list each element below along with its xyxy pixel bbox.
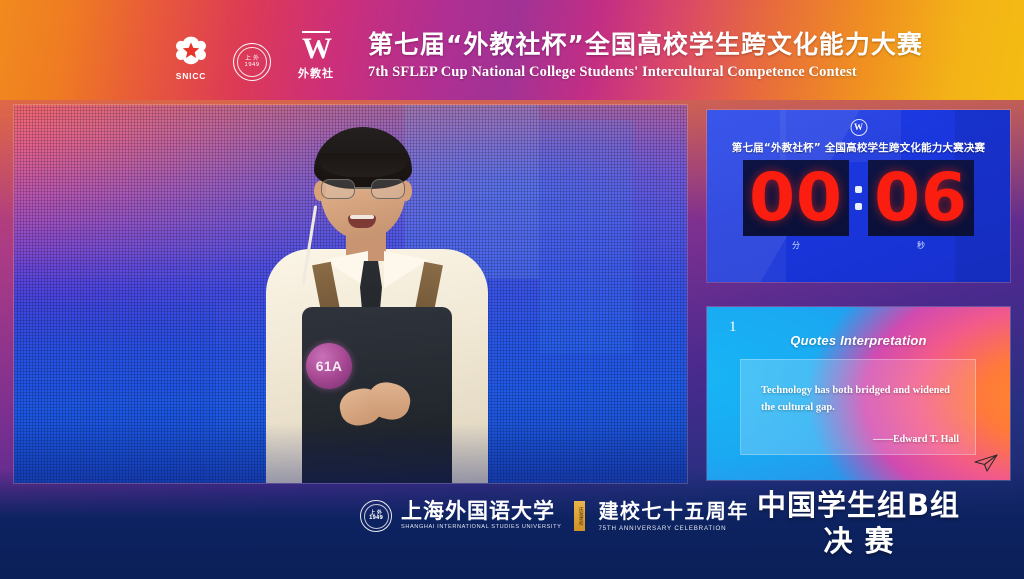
contest-title-chinese: 第七届“外教社杯”全国高校学生跨文化能力大赛 bbox=[368, 30, 923, 60]
seconds-group: 06 秒 bbox=[868, 160, 974, 251]
sisu-footer-seal-icon: 上 外 1949 bbox=[360, 500, 392, 532]
live-video-feed[interactable]: 61A bbox=[14, 105, 687, 483]
header-titles: 第七届“外教社杯”全国高校学生跨文化能力大赛 7th SFLEP Cup Nat… bbox=[368, 30, 923, 82]
seconds-unit-label: 秒 bbox=[917, 240, 925, 251]
group-stage-label: 中国学生组B组 决赛 bbox=[707, 487, 1010, 559]
sisu-seal-icon: 上 外 1949 bbox=[233, 43, 271, 81]
sisu-name-block: 上海外国语大学 SHANGHAI INTERNATIONAL STUDIES U… bbox=[401, 501, 561, 531]
university-footer-logos: 上 外 1949 上海外国语大学 SHANGHAI INTERNATIONAL … bbox=[360, 500, 749, 532]
sisu-seal-label: 上 外 bbox=[244, 56, 259, 63]
header-content: SNICC 上 外 1949 W 外教社 第七届“外教社杯”全国高校 bbox=[168, 30, 923, 82]
contestant-number-text: 61A bbox=[316, 358, 343, 374]
countdown-timer-panel: W 第七届“外教社杯” 全国高校学生跨文化能力大赛决赛 00 分 06 秒 bbox=[707, 110, 1010, 282]
sisu-footer-seal-year: 1949 bbox=[369, 515, 383, 521]
slide-title: Quotes Interpretation bbox=[707, 333, 1010, 348]
quote-card: Technology has both bridged and widened … bbox=[740, 359, 976, 455]
timer-sflep-logo-icon: W bbox=[850, 119, 867, 136]
snicc-logo: SNICC bbox=[168, 34, 214, 81]
timer-clock: 00 分 06 秒 bbox=[707, 160, 1010, 251]
seconds-value: 06 bbox=[874, 165, 968, 231]
paper-plane-icon bbox=[974, 454, 998, 472]
mouth bbox=[348, 215, 376, 228]
quote-text: Technology has both bridged and widened … bbox=[761, 382, 959, 416]
contest-title-english: 7th SFLEP Cup National College Students'… bbox=[368, 62, 923, 82]
timer-colon-icon bbox=[855, 186, 862, 210]
sisu-name-english: SHANGHAI INTERNATIONAL STUDIES UNIVERSIT… bbox=[401, 525, 561, 531]
minutes-value: 00 bbox=[749, 165, 843, 231]
minutes-display: 00 bbox=[743, 160, 849, 236]
timer-heading: 第七届“外教社杯” 全国高校学生跨文化能力大赛决赛 bbox=[707, 140, 1010, 155]
broadcast-stage: SNICC 上 外 1949 W 外教社 第七届“外教社杯”全国高校 bbox=[0, 0, 1024, 579]
contestant-number-badge: 61A bbox=[306, 343, 352, 389]
sflep-logo-caption: 外教社 bbox=[290, 65, 342, 81]
presentation-slide-panel[interactable]: 1 Quotes Interpretation Technology has b… bbox=[707, 307, 1010, 480]
header-logo-group: SNICC 上 外 1949 W 外教社 bbox=[168, 31, 342, 81]
minutes-unit-label: 分 bbox=[792, 240, 800, 251]
sisu-seal-year: 1949 bbox=[244, 62, 259, 68]
snicc-logo-caption: SNICC bbox=[168, 71, 214, 81]
contest-header-banner: SNICC 上 外 1949 W 外教社 第七届“外教社杯”全国高校 bbox=[0, 0, 1024, 100]
stage-round-text: 决赛 bbox=[707, 523, 1010, 559]
snicc-star-icon bbox=[174, 34, 208, 68]
group-name-text: 中国学生组B组 bbox=[707, 487, 1010, 523]
sflep-logo: W 外教社 bbox=[290, 31, 342, 81]
anniversary-divider: 庆祝建校 bbox=[574, 501, 585, 531]
sisu-name-chinese: 上海外国语大学 bbox=[401, 501, 561, 522]
timer-logo-mark: W bbox=[854, 123, 863, 132]
sisu-seal-logo: 上 外 1949 bbox=[228, 43, 276, 81]
quote-author: ——Edward T. Hall bbox=[873, 434, 959, 445]
anniversary-divider-text: 庆祝建校 bbox=[578, 507, 583, 525]
glasses-icon bbox=[314, 179, 414, 201]
sflep-w-mark: W bbox=[302, 31, 330, 64]
minutes-group: 00 分 bbox=[743, 160, 849, 251]
seconds-display: 06 bbox=[868, 160, 974, 236]
